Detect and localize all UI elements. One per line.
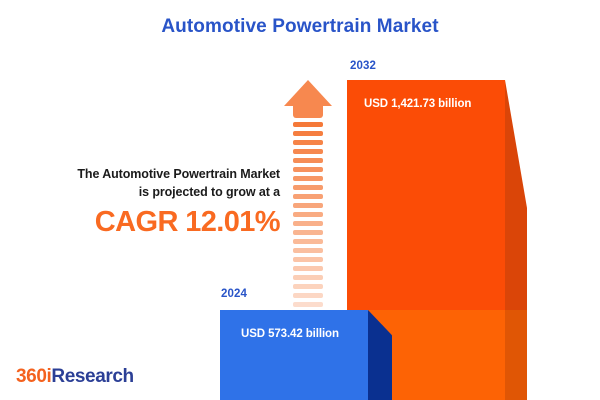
arrow-rung	[293, 212, 323, 217]
bar-2032-side-face-lower	[505, 310, 527, 400]
arrow-rung	[293, 302, 323, 307]
arrow-rung	[293, 140, 323, 145]
statement-line-1: The Automotive Powertrain Market	[8, 165, 280, 183]
year-label-2024: 2024	[221, 288, 247, 300]
arrow-head	[284, 80, 332, 106]
arrow-rung	[293, 248, 323, 253]
arrow-rung	[293, 176, 323, 181]
bar-value-2024: USD 573.42 billion	[241, 328, 339, 340]
bar-value-2032: USD 1,421.73 billion	[364, 98, 471, 110]
cagr-value: CAGR 12.01%	[8, 205, 280, 239]
arrow-rung	[293, 194, 323, 199]
arrow-rung	[293, 221, 323, 226]
arrow-rung	[293, 203, 323, 208]
arrow-rung	[293, 167, 323, 172]
arrow-rung	[293, 293, 323, 298]
arrow-rung	[293, 266, 323, 271]
arrow-rung	[293, 131, 323, 136]
bar-2024-front-face	[220, 310, 368, 400]
up-arrow-icon	[284, 80, 332, 296]
arrow-rung	[293, 122, 323, 127]
arrow-rung	[293, 158, 323, 163]
arrow-rung	[293, 149, 323, 154]
logo-360i-text: 360i	[16, 366, 51, 387]
infographic-canvas: Automotive Powertrain Market The Automot…	[0, 0, 600, 400]
statement-line-2: is projected to grow at a	[8, 183, 280, 201]
arrow-neck	[293, 106, 323, 118]
arrow-rung	[293, 275, 323, 280]
logo-research-text: Research	[51, 366, 133, 387]
arrow-rung	[293, 185, 323, 190]
arrow-rung	[293, 257, 323, 262]
brand-logo: 360iResearch	[16, 366, 134, 388]
arrow-rung	[293, 239, 323, 244]
year-label-2032: 2032	[350, 60, 376, 72]
arrow-rung	[293, 284, 323, 289]
arrow-rung	[293, 230, 323, 235]
page-title: Automotive Powertrain Market	[0, 16, 600, 38]
cagr-statement: The Automotive Powertrain Market is proj…	[8, 165, 280, 239]
